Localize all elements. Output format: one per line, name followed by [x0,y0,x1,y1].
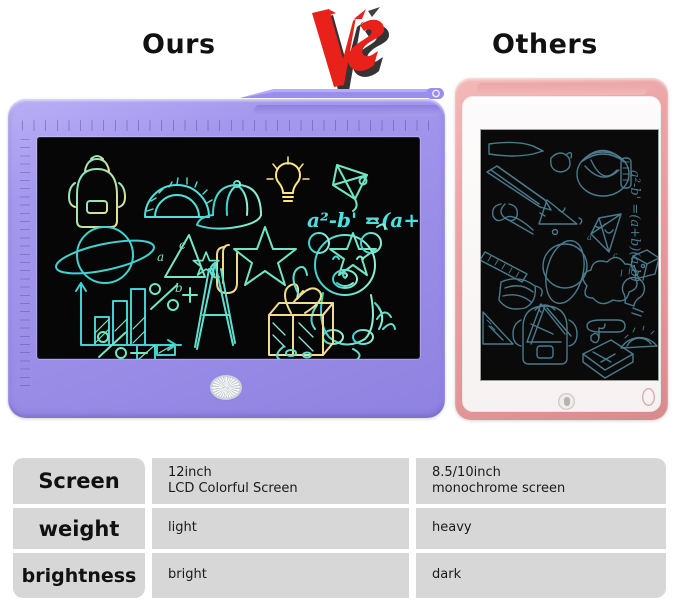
table-row: Screen 12inch LCD Colorful Screen 8.5/10… [13,458,666,504]
drawing-protractor [621,326,657,348]
svg-text:a: a [587,233,592,242]
drawing-protractor [145,178,212,217]
cell-ours-weight: light [152,508,409,549]
heading-ours: Ours [142,25,216,65]
svg-text:b: b [175,281,183,295]
drawing-paperclip [587,320,625,332]
svg-text:a: a [157,250,164,264]
drawing-backpack [513,305,577,364]
drawing-teddy-bear-with-gift [269,218,395,359]
ruler-scale-left [20,139,30,389]
cell-ours-brightness: bright [152,553,409,598]
drawing-kite [333,165,367,211]
drawing-triangle [539,200,582,235]
product-ours-tablet: a²-b' =(a+b)(a-b) a c b [8,95,445,420]
drawing-scissors [493,204,533,234]
lanyard-hole [642,388,655,406]
drawing-set-square [483,312,513,344]
drawing-planet-saturn [53,227,156,283]
svg-text:a²-b' =(a+b)(a-b): a²-b' =(a+b)(a-b) [307,208,420,232]
erase-button[interactable] [212,377,240,398]
drawing-face [551,153,572,172]
tablet-frame-pink: a²-b' =(a+b)(a-b) [455,78,668,420]
table-row: weight light heavy [13,508,666,549]
cell-others-weight: heavy [416,508,666,549]
drawing-kite: a c [587,214,621,260]
drawing-percent-plus [150,284,197,310]
ruler-scale-top [22,120,429,131]
drawing-mask [499,279,542,309]
drawing-bar-chart [76,283,181,359]
lcd-screen-monochrome[interactable]: a²-b' =(a+b)(a-b) [481,130,658,380]
comparison-infographic: Ours Others [0,0,679,605]
cell-text-line1: 8.5/10inch [432,465,565,481]
drawing-planet-saturn [540,237,590,308]
drawing-compass-divider [527,304,571,344]
tablet-bezel-white: a²-b' =(a+b)(a-b) [462,96,661,412]
cell-text-line2: monochrome screen [432,481,565,497]
heading-others: Others [492,25,598,65]
table-row: brightness bright dark [13,553,666,598]
erase-button-pink[interactable] [558,393,575,410]
drawing-star-medium [330,233,376,275]
row-label-screen: Screen [13,458,145,504]
drawing-book [583,340,633,378]
drawing-equation: a²-b' =(a+b)(a-b) [307,208,420,232]
svg-text:c: c [613,251,618,260]
stylus-groove [254,105,440,116]
tablet-frame-purple: a²-b' =(a+b)(a-b) a c b [8,99,445,418]
cell-text-line1: 12inch [168,465,298,481]
drawing-pencil [487,166,551,216]
lcd-screen-colorful[interactable]: a²-b' =(a+b)(a-b) a c b [37,137,420,359]
row-label-weight: weight [13,508,145,549]
cell-ours-screen: 12inch LCD Colorful Screen [152,458,409,504]
drawing-lightbulb [267,157,309,201]
cell-others-screen: 8.5/10inch monochrome screen [416,458,666,504]
stylus-groove-pink [477,83,647,95]
svg-text:c: c [179,238,186,252]
drawing-note-music [591,324,605,343]
comparison-table: Screen 12inch LCD Colorful Screen 8.5/10… [13,458,666,598]
drawing-ruler [481,252,527,282]
drawing-headphones [577,150,631,196]
cell-others-brightness: dark [416,553,666,598]
row-label-brightness: brightness [13,553,145,598]
drawing-star-large [234,227,296,285]
drawing-backpack [69,156,125,227]
product-others-tablet: a²-b' =(a+b)(a-b) [455,78,668,420]
drawing-equation-side: a²-b' =(a+b)(a-b) [627,170,642,282]
cell-text-line2: LCD Colorful Screen [168,481,298,497]
drawing-compass-divider [195,263,235,349]
vs-logo [307,6,393,94]
svg-text:a²-b' =(a+b)(a-b): a²-b' =(a+b)(a-b) [627,170,642,282]
drawing-pen [489,142,543,156]
